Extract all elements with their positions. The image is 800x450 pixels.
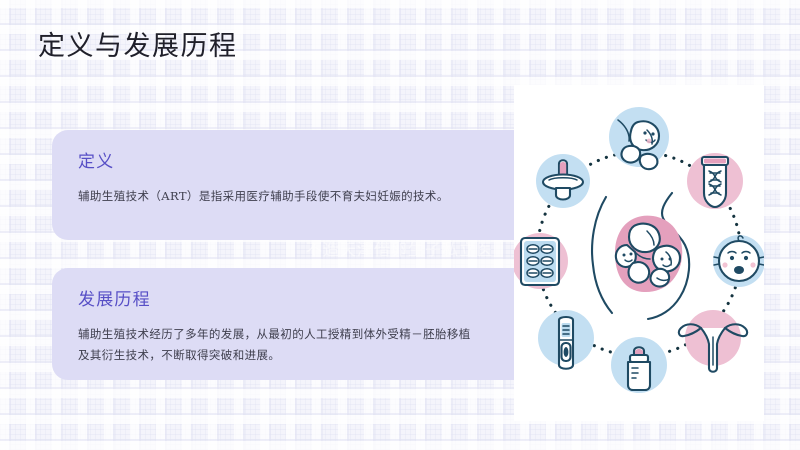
pacifier-icon <box>536 154 590 208</box>
page-title: 定义与发展历程 <box>38 30 238 64</box>
history-card-body: 辅助生殖技术经历了多年的发展，从最初的人工授精到体外受精－胚胎移植及其衍生技术，… <box>78 324 482 366</box>
pregnancy-test-icon <box>538 310 594 369</box>
history-card: 发展历程 辅助生殖技术经历了多年的发展，从最初的人工授精到体外受精－胚胎移植及其… <box>52 268 514 380</box>
definition-card: 定义 辅助生殖技术（ART）是指采用医疗辅助手段使不育夫妇妊娠的技术。 <box>52 130 514 240</box>
definition-card-heading: 定义 <box>78 150 488 174</box>
fetus-icon <box>609 107 669 169</box>
baby-bottle-icon <box>611 337 667 393</box>
baby-face-icon <box>713 235 764 287</box>
art-cycle-illustration: .ln { fill:none; stroke:#1f4a63; stroke-… <box>514 85 764 421</box>
slide-canvas: 定义与发展历程 定义 辅助生殖技术（ART）是指采用医疗辅助手段使不育夫妇妊娠的… <box>0 0 800 450</box>
illustration-panel: .ln { fill:none; stroke:#1f4a63; stroke-… <box>514 85 764 421</box>
uterus-icon <box>679 310 747 372</box>
dna-test-tube-icon <box>687 153 743 209</box>
pregnant-belly-with-twins-center <box>592 193 689 319</box>
pill-blister-pack-icon <box>514 233 568 289</box>
definition-card-body: 辅助生殖技术（ART）是指采用医疗辅助手段使不育夫妇妊娠的技术。 <box>78 186 482 207</box>
history-card-heading: 发展历程 <box>78 288 488 312</box>
watermark-text: 不造天津借卵生子私立医 <box>306 240 493 260</box>
